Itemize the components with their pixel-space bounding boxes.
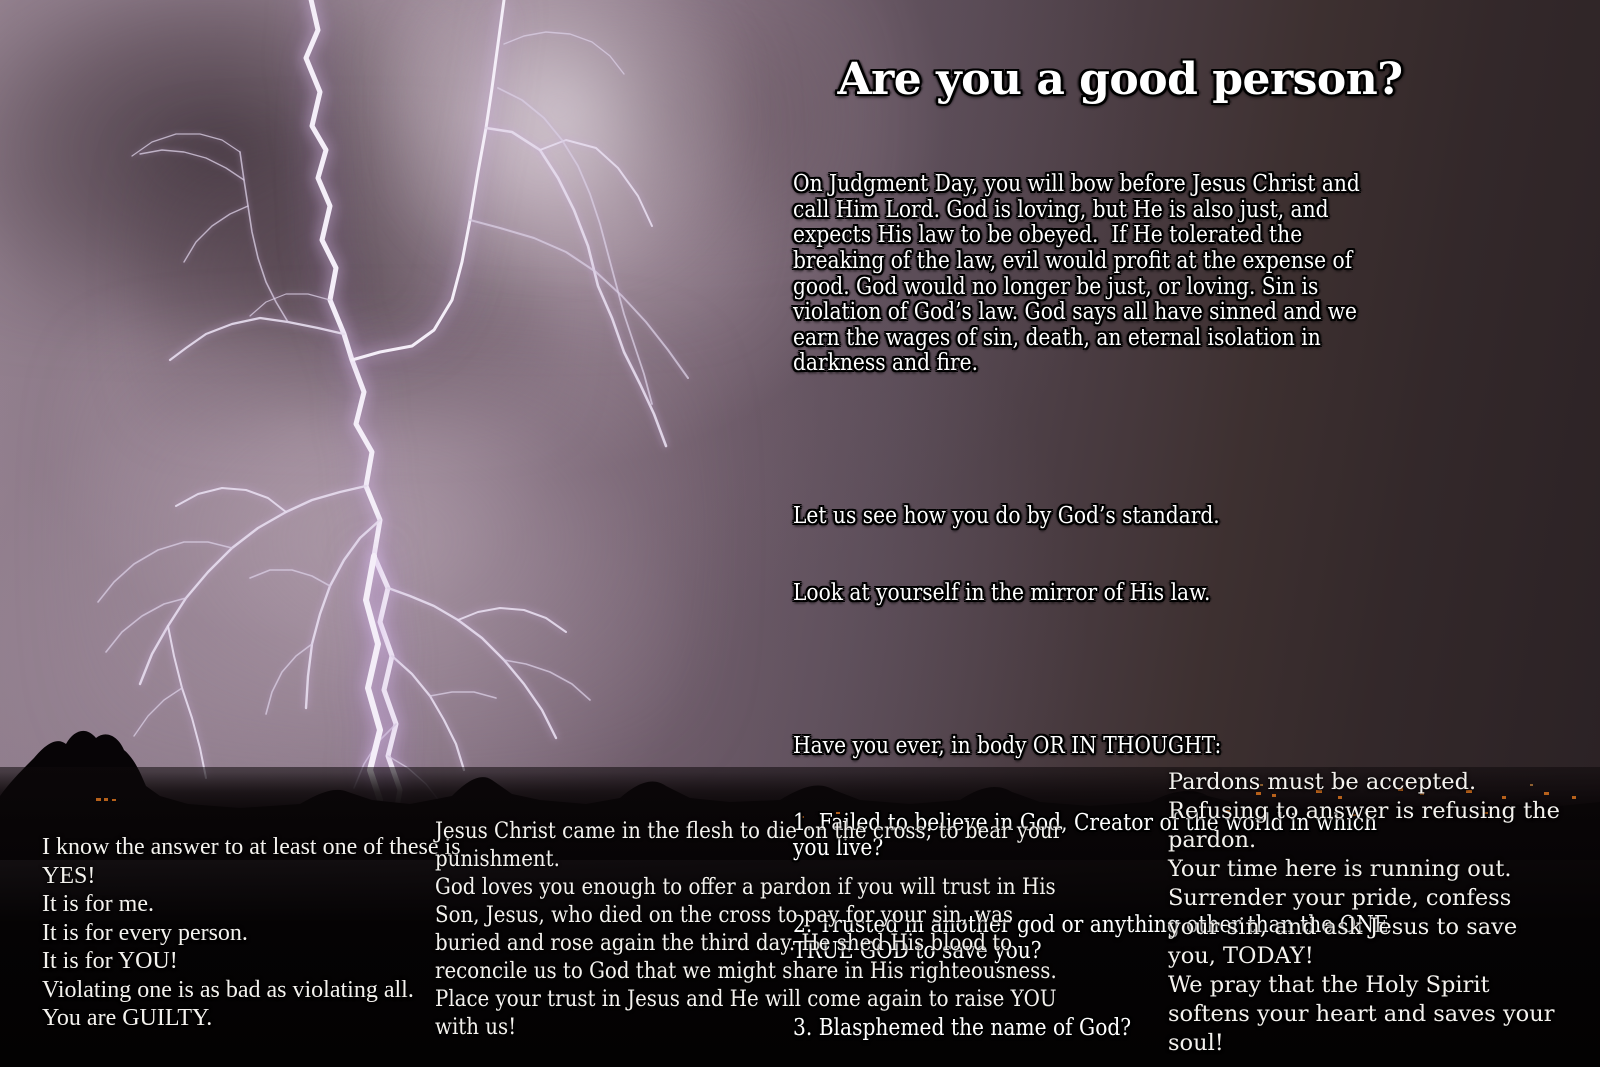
page-title: Are you a good person? [800, 57, 1440, 103]
appeal-line: Surrender your pride, confess your sin, … [1168, 884, 1568, 971]
verdict-line: It is for every person. [42, 919, 462, 948]
call-to-action-block: Pardons must be accepted. Refusing to an… [1168, 768, 1568, 1058]
gospel-line: Jesus Christ came in the flesh to die on… [435, 818, 1083, 874]
verdict-line: I know the answer to at least one of the… [42, 833, 462, 890]
guilty-verdict-block: I know the answer to at least one of the… [42, 833, 462, 1033]
paragraph-spacer [793, 657, 1395, 682]
verdict-line: You are GUILTY. [42, 1004, 462, 1033]
gospel-line: God loves you enough to offer a pardon i… [435, 874, 1083, 986]
gospel-message-block: Jesus Christ came in the flesh to die on… [435, 818, 1083, 1042]
list-intro: Have you ever, in body OR IN THOUGHT: [793, 733, 1395, 759]
gospel-line: Place your trust in Jesus and He will co… [435, 986, 1083, 1042]
appeal-line: Pardons must be accepted. [1168, 768, 1568, 797]
gospel-tract-poster: Are you a good person? On Judgment Day, … [0, 0, 1600, 1067]
verdict-line: It is for me. [42, 890, 462, 919]
standard-line-1: Let us see how you do by God’s standard. [793, 503, 1395, 529]
verdict-line: Violating one is as bad as violating all… [42, 976, 462, 1005]
appeal-line: Your time here is running out. [1168, 855, 1568, 884]
paragraph-spacer [793, 427, 1395, 452]
appeal-line: Refusing to answer is refusing the pardo… [1168, 797, 1568, 855]
standard-line-2: Look at yourself in the mirror of His la… [793, 580, 1395, 606]
paragraph-judgment-day: On Judgment Day, you will bow before Jes… [793, 171, 1395, 376]
appeal-line: We pray that the Holy Spirit softens you… [1168, 971, 1568, 1058]
verdict-line: It is for YOU! [42, 947, 462, 976]
